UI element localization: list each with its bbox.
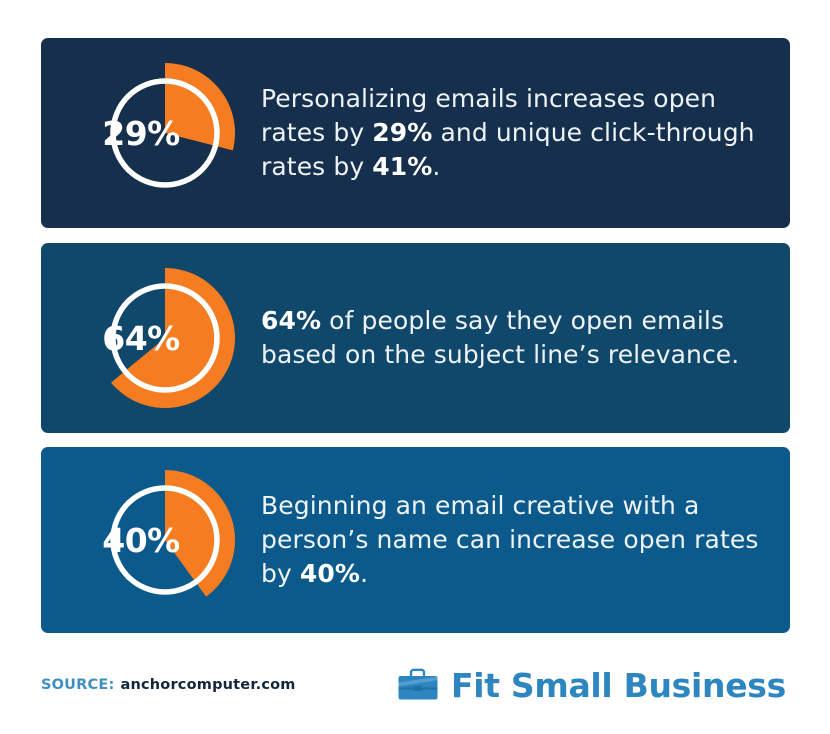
stat-text-bold: 64% xyxy=(261,306,321,335)
logo-wordmark: Fit Small Business xyxy=(451,666,786,705)
stat-panel-1: 29% Personalizing emails increases open … xyxy=(41,38,790,228)
stat-text-seg: of people say they open emails based on … xyxy=(261,306,739,369)
brand-logo[interactable]: Fit Small Business xyxy=(396,666,790,705)
donut-chart-3: 40% xyxy=(41,445,241,635)
donut-value-1: 29% xyxy=(41,38,241,228)
briefcase-icon xyxy=(396,667,440,703)
stat-panel-3: 40% Beginning an email creative with a p… xyxy=(41,447,790,633)
infographic-root: 29% Personalizing emails increases open … xyxy=(0,0,830,734)
source-value[interactable]: anchorcomputer.com xyxy=(120,677,295,693)
footer: SOURCE:anchorcomputer.com Fit Small Busi… xyxy=(41,655,790,715)
source-credit: SOURCE:anchorcomputer.com xyxy=(41,677,296,693)
donut-value-2: 64% xyxy=(41,243,241,433)
stat-text-seg: . xyxy=(360,559,368,588)
donut-value-label-1: 29% xyxy=(102,114,180,153)
donut-value-3: 40% xyxy=(41,445,241,635)
stat-text-bold: 40% xyxy=(300,559,360,588)
stat-text-bold: 41% xyxy=(372,152,432,181)
donut-value-label-2: 64% xyxy=(102,319,180,358)
stat-text-2: 64% of people say they open emails based… xyxy=(241,304,790,372)
donut-chart-1: 29% xyxy=(41,38,241,228)
stat-text-bold: 29% xyxy=(372,118,432,147)
stat-panel-2: 64% 64% of people say they open emails b… xyxy=(41,243,790,433)
donut-chart-2: 64% xyxy=(41,243,241,433)
source-label: SOURCE: xyxy=(41,677,114,693)
stat-text-1: Personalizing emails increases open rate… xyxy=(241,82,790,184)
donut-value-label-3: 40% xyxy=(102,521,180,560)
stat-text-seg: . xyxy=(432,152,440,181)
stat-text-3: Beginning an email creative with a perso… xyxy=(241,489,790,591)
